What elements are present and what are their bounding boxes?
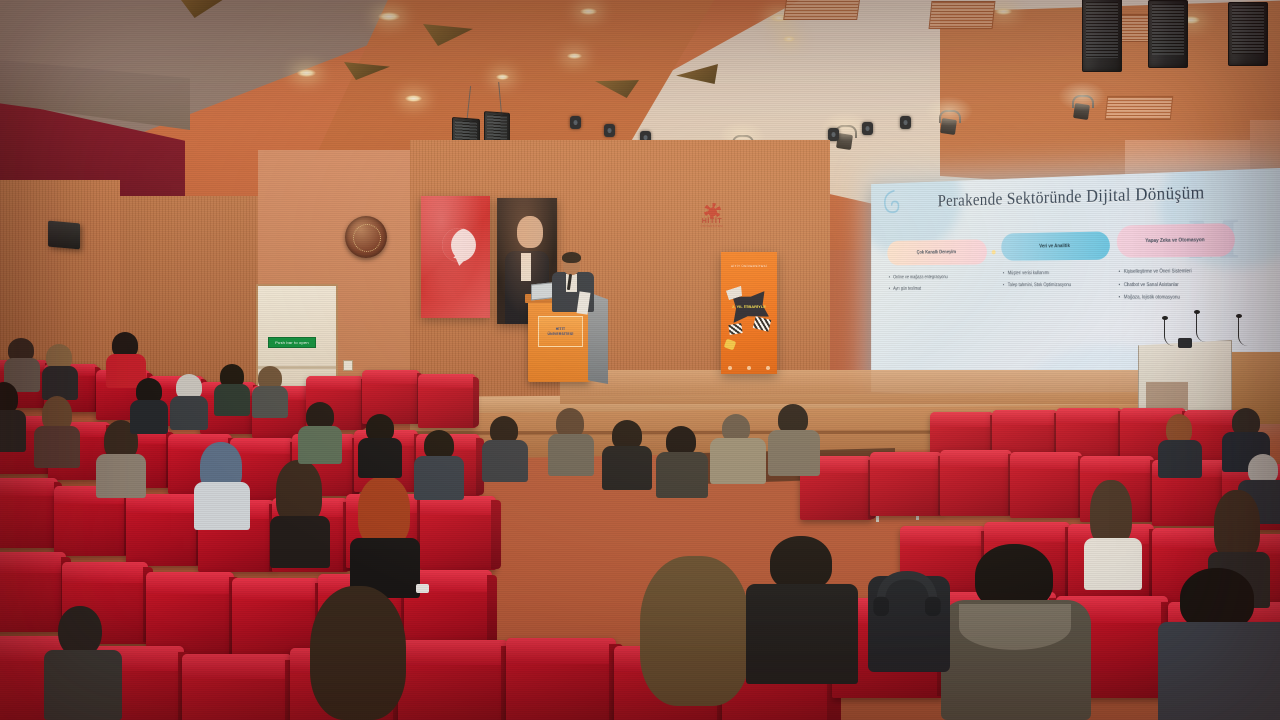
person-torso [414,456,464,500]
person-hair [1214,490,1260,560]
ceiling-downlight [496,74,509,80]
person-torso [710,438,766,484]
beam-spotlight [604,124,615,137]
person-torso [44,650,122,720]
seat[interactable] [870,452,942,516]
hitit-university-logo: HİTİT ÜNİVERSİTESİ [688,203,736,228]
person-torso [298,426,342,464]
slide-bullet: Online ve mağaza entegrasyonu [889,274,987,283]
banner-header: HİTİT ÜNİVERSİTESİ [721,264,777,268]
wall-speaker [48,221,80,250]
ceiling-downlight [580,8,597,15]
hoodie-hood [959,604,1071,650]
person-hair [276,460,322,524]
person-torso [768,430,820,476]
ceiling-downlight [378,12,400,21]
person-torso [602,446,652,490]
person-hair [640,556,750,706]
slide-bullets-2: Müşteri verisi kullanımı Talep tahmini, … [1003,269,1105,293]
person-torso [170,396,208,430]
slide-bullet: Müşteri verisi kullanımı [1003,269,1105,278]
person-hair [1180,568,1254,630]
slide-bullet: Chatbot ve Sanal Asistanlar [1119,280,1233,290]
beam-spotlight [900,116,911,129]
seat[interactable] [0,552,66,632]
hvac-grille [783,0,861,20]
ceiling-downlight [783,36,795,42]
hvac-grille [929,1,996,29]
person-torso [42,366,78,400]
auditorium-photo: Push bar to open HİTİT ÜNİVERSİTESİ [0,0,1280,720]
slide-pill-3: Yapay Zeka ve Otomasyon [1117,223,1235,258]
hvac-grille [1105,96,1174,120]
person-hair [1090,480,1132,546]
person-torso [252,386,288,418]
seat[interactable] [182,654,292,720]
headphones-icon [870,568,944,616]
stage-spotlight [937,110,961,136]
person-torso [1084,538,1142,590]
ceiling-downlight [567,53,582,59]
hanging-speaker [1148,0,1188,68]
hitit-logo-name: HİTİT [702,218,723,225]
slide-pill-1: Çok Kanallı Deneyim [887,239,987,265]
beam-spotlight [570,116,581,129]
seat[interactable] [0,478,58,548]
person-torso [1158,440,1202,478]
slide-bullets-1: Online ve mağaza entegrasyonu Ayrı gün t… [889,274,987,297]
person-torso [0,410,26,452]
seat[interactable] [420,496,496,570]
turkish-flag [421,196,490,318]
seat[interactable] [940,450,1012,516]
phone [416,584,429,593]
slide-bullet: Mağaza, lojistik otomasyonu [1119,293,1233,304]
seat[interactable] [506,638,616,720]
person-torso [656,452,708,498]
person-hair [770,536,832,590]
person-torso [34,426,80,468]
stage-spotlight [1070,95,1094,121]
person-torso [548,434,594,476]
seat[interactable] [418,374,476,428]
presenter-hair [562,252,581,263]
hitit-logo-subtitle: ÜNİVERSİTESİ [701,225,724,228]
presenter [546,248,600,308]
wall-plaque-icon [345,216,387,258]
seat[interactable] [1010,452,1082,518]
slide-connector-dot [992,250,996,255]
hanging-speaker [1082,0,1122,72]
slide-bullets-3: Kişiselleştirme ve Öneri Sistemleri Chat… [1119,266,1233,306]
person-torso [96,454,146,498]
person-hair [358,476,410,546]
banner-title: 2. YIL İTİBARİYLE [721,304,777,309]
audience-seating [0,330,1280,720]
hitit-sun-icon [704,203,721,218]
person-torso [194,482,250,530]
seat[interactable] [398,640,508,720]
seat[interactable] [126,494,200,566]
ceiling-downlight [297,69,316,77]
person-torso [1158,622,1280,720]
hanging-speaker [1228,2,1268,66]
seat[interactable] [146,572,234,656]
ceiling-downlight [995,8,1012,15]
person-torso [270,516,330,568]
ceiling-downlight [405,95,422,102]
person-torso [482,440,528,482]
slide-pill-2: Veri ve Analitik [1001,231,1110,260]
person-torso [358,438,402,478]
beam-spotlight [862,122,873,135]
slide-bullet: Ayrı gün teslimat [889,285,987,294]
slide-bullet: Talep tahmini, Stok Optimizasyonu [1003,281,1105,290]
person-torso [214,384,250,416]
slide-bullet: Kişiselleştirme ve Öneri Sistemleri [1119,266,1233,277]
person-torso [746,584,858,684]
person-hair [310,586,406,720]
person-torso [130,400,168,434]
